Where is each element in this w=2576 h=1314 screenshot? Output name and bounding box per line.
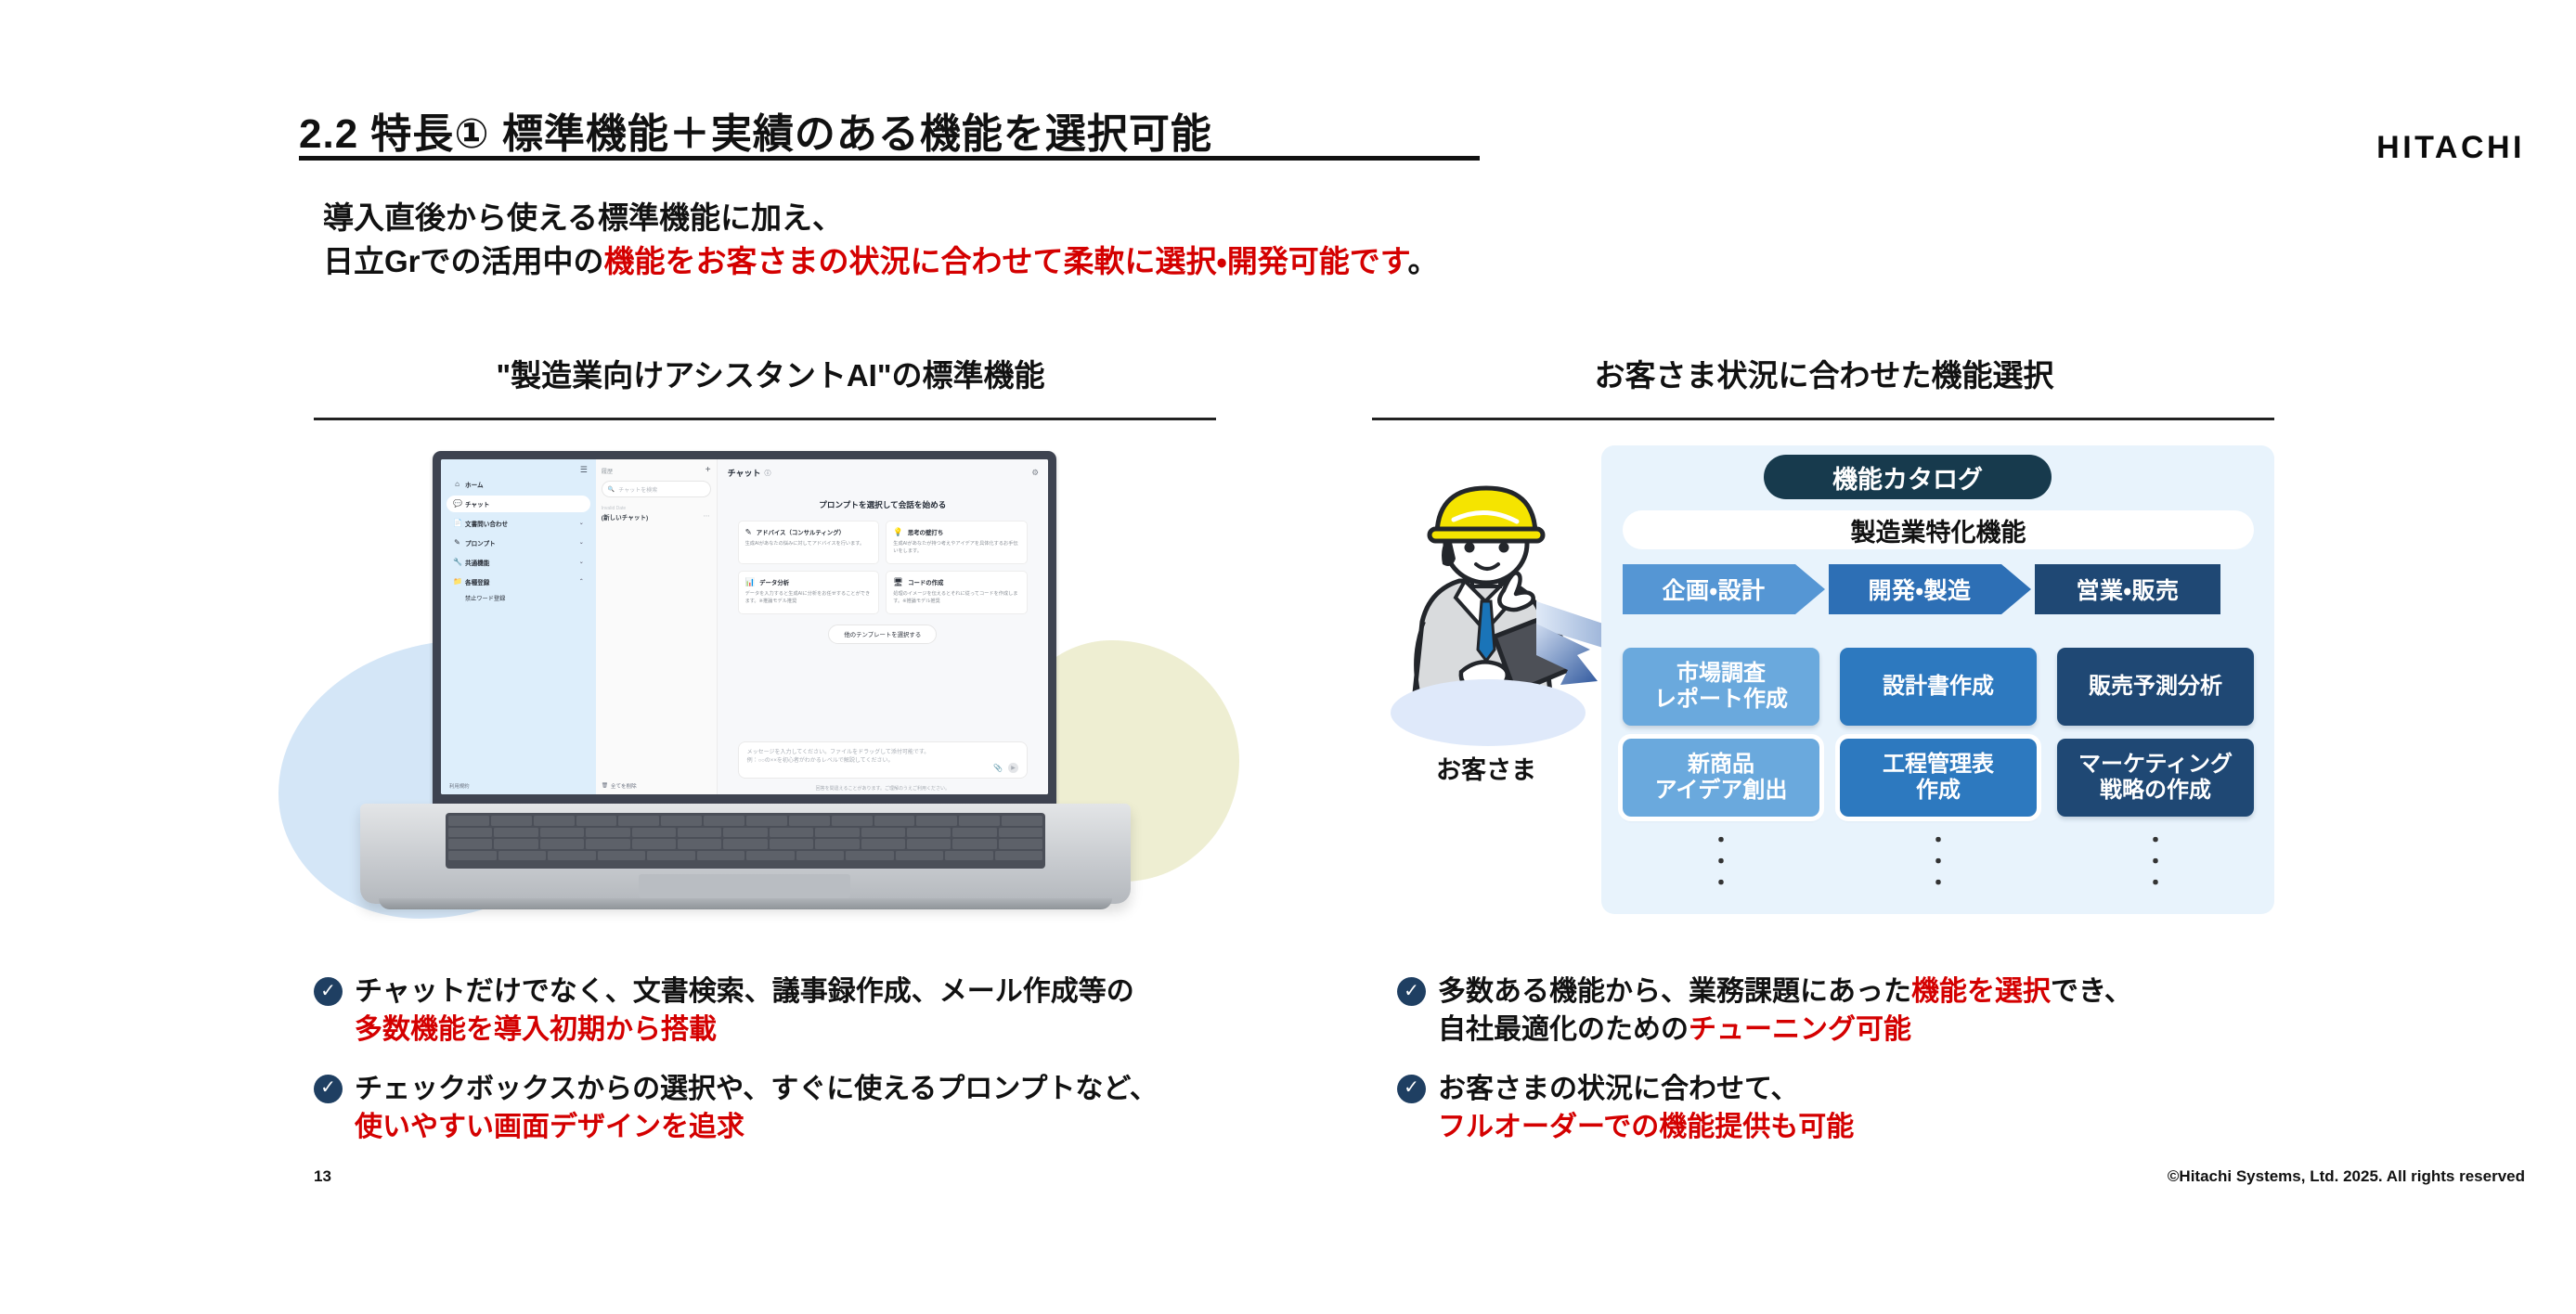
key: [874, 816, 915, 826]
search-icon: 🔍: [608, 486, 615, 493]
person-label: お客さま: [1365, 750, 1608, 786]
fc-l1: マーケティング: [2078, 752, 2233, 777]
ai-disclaimer: 回答を間違えることがあります。ご理解のうえご利用ください。: [718, 785, 1048, 792]
bullet-item: ✓ チェックボックスからの選択や、すぐに使えるプロンプトなど、 使いやすい画面デ…: [314, 1070, 1298, 1147]
sidebar-item-document-inquiry[interactable]: 📄 文書問い合わせ ⌄: [447, 515, 590, 532]
key: [647, 851, 695, 861]
code-icon: 🖥: [893, 577, 903, 587]
bullet-item: ✓ お客さまの状況に合わせて、 フルオーダーでの機能提供も可能: [1397, 1070, 2335, 1147]
function-card-label: 市場調査レポート作成: [1654, 661, 1788, 714]
bullet-text: 多数ある機能から、業務課題にあった機能を選択でき、 自社最適化のためのチューニン…: [1438, 973, 2132, 1050]
fc-l2: 戦略の作成: [2100, 778, 2211, 803]
sidebar-item-chat[interactable]: 💬 チャット: [447, 496, 590, 512]
function-card-label: 設計書作成: [1883, 674, 1994, 700]
lead-line-2-tail: 。: [1407, 244, 1438, 278]
laptop-trackpad: [639, 874, 850, 898]
trash-icon: 🗑: [602, 783, 608, 789]
ellipsis-row: ・・・ ・・・ ・・・: [1623, 830, 2254, 894]
message-composer[interactable]: メッセージを入力してください。ファイルをドラッグして添付可能です。 例：○○の×…: [738, 741, 1028, 779]
key: [632, 828, 676, 838]
history-item-date: Invalid Date: [602, 506, 711, 511]
bullet-line-2-black: 自社最適化のための: [1438, 1014, 1689, 1045]
delete-all-button[interactable]: 🗑 全てを削除: [602, 782, 711, 794]
bullet-text: お客さまの状況に合わせて、 フルオーダーでの機能提供も可能: [1438, 1070, 1854, 1147]
laptop-base-lip: [379, 898, 1112, 909]
fc-l1: 新商品: [1688, 752, 1754, 777]
chevron-down-icon: ⌄: [579, 520, 584, 526]
main-title: チャット: [728, 467, 761, 479]
key: [952, 828, 996, 838]
hitachi-logo: HITACHI: [2376, 130, 2525, 166]
lead-line-2-black: 日立Grでの活用中の: [323, 244, 604, 278]
lead-text: 導入直後から使える標準機能に加え、 日立Grでの活用中の機能をお客さまの状況に合…: [323, 197, 1438, 284]
chat-icon: 💬: [453, 499, 461, 508]
function-row: 市場調査レポート作成 設計書作成 販売予測分析: [1623, 648, 2254, 726]
left-heading-rule: [314, 418, 1216, 420]
key: [448, 839, 492, 849]
right-column-heading: お客さま状況に合わせた機能選択: [1365, 351, 2284, 395]
bullet-line-1: チェックボックスからの選択や、すぐに使えるプロンプトなど、: [355, 1074, 1158, 1104]
sidebar-subitem-banned-words[interactable]: 禁止ワード登録: [441, 591, 596, 602]
home-icon: ⌂: [453, 480, 461, 488]
laptop-screen: ☰ ⌂ ホーム 💬 チャット 📄 文書問い合わせ ⌄: [441, 459, 1048, 794]
key: [770, 828, 813, 838]
pencil-icon: ✎: [745, 527, 752, 537]
bullet-line-2: 自社最適化のためのチューニング可能: [1438, 1011, 2132, 1049]
stage-label: 営業・販売: [2076, 573, 2179, 606]
key: [448, 816, 489, 826]
key: [861, 828, 905, 838]
key: [540, 828, 584, 838]
key: [907, 828, 951, 838]
bullet-line-1: チャットだけでなく、文書検索、議事録作成、メール作成等の: [355, 976, 1134, 1007]
key: [448, 828, 492, 838]
check-icon: ✓: [314, 977, 343, 1006]
history-list-item[interactable]: Invalid Date (新しいチャット) ⋯: [602, 506, 711, 522]
bullet-line-1-red: 機能を選択: [1911, 976, 2051, 1007]
bullet-line-1-tail: でき、: [2051, 976, 2132, 1007]
fc-l2: アイデア創出: [1655, 778, 1788, 803]
page-number: 13: [314, 1167, 331, 1186]
keyboard-row: [448, 839, 1042, 849]
manufacturing-features-bar: 製造業特化機能: [1623, 510, 2254, 549]
function-card-label: 工程管理表作成: [1883, 752, 1994, 805]
bar-chart-icon: 📊: [745, 577, 756, 587]
history-search-placeholder: チャットを検索: [618, 485, 657, 494]
prompt-card-desc: 処理のイメージを伝えるとそれに従ってコードを作成します。※推論モデル推奨: [893, 591, 1020, 605]
function-row: 新商品アイデア創出 工程管理表作成 マーケティング戦略の作成: [1623, 739, 2254, 817]
key: [618, 816, 659, 826]
send-icon[interactable]: ▶: [1008, 763, 1018, 773]
key: [789, 816, 830, 826]
prompt-card[interactable]: 📊 データ分析 データを入力すると生成AIに分析をお任せすることができます。※推…: [738, 571, 880, 614]
prompt-card-head: 💡 思考の壁打ち: [893, 527, 1020, 537]
lightbulb-icon: 💡: [893, 527, 903, 537]
history-panel: 履歴 + 🔍 チャットを検索 Invalid Date (新しいチャット) ⋯: [596, 459, 718, 794]
app-sidebar: ☰ ⌂ ホーム 💬 チャット 📄 文書問い合わせ ⌄: [441, 459, 596, 794]
key: [586, 839, 629, 849]
fc-l1: 市場調査: [1676, 661, 1766, 686]
composer-actions: 📎 ▶: [993, 763, 1018, 773]
composer-placeholder: メッセージを入力してください。ファイルをドラッグして添付可能です。 例：○○の×…: [747, 749, 1018, 766]
sidebar-label-prompt: プロンプト: [465, 538, 496, 547]
key: [746, 816, 787, 826]
bullet-line-2-red: フルオーダーでの機能提供も可能: [1438, 1108, 1854, 1146]
prompt-card-desc: 生成AIがあなたが持つ考えやアイデアを具体化するお手伝いをします。: [893, 541, 1020, 555]
fc-l2: レポート作成: [1654, 687, 1788, 712]
stage-label: 企画・設計: [1662, 573, 1765, 606]
sidebar-label-common: 共通機能: [465, 558, 489, 567]
prompt-card-head: 📊 データ分析: [745, 577, 873, 587]
right-heading-rule: [1372, 418, 2274, 420]
key: [815, 828, 859, 838]
history-item-name: (新しいチャット): [602, 512, 711, 522]
chevron-up-icon: ⌃: [579, 578, 584, 585]
title-underline: [299, 156, 1480, 161]
bullet-line-2: 使いやすい画面デザインを追求: [355, 1108, 1158, 1146]
app-window: ☰ ⌂ ホーム 💬 チャット 📄 文書問い合わせ ⌄: [441, 459, 1048, 794]
key: [494, 839, 537, 849]
fc-l1: 工程管理表: [1883, 752, 1994, 777]
function-card-new-product-idea[interactable]: 新商品アイデア創出: [1623, 739, 1819, 817]
key: [770, 839, 813, 849]
keyboard-row: [448, 816, 1042, 826]
bullet-text: チェックボックスからの選択や、すぐに使えるプロンプトなど、 使いやすい画面デザイ…: [355, 1070, 1158, 1147]
ellipsis-dots-icon: ・・・: [1840, 830, 2037, 894]
prompt-card-title: データ分析: [759, 578, 789, 586]
key: [916, 816, 957, 826]
stage-row: 企画・設計 開発・製造 営業・販売: [1623, 564, 2254, 614]
stage-planning-design[interactable]: 企画・設計: [1623, 564, 1825, 614]
sidebar-label-home: ホーム: [465, 480, 484, 489]
sidebar-label-registrations: 各種登録: [465, 577, 489, 586]
prompt-card-title: アドバイス（コンサルティング）: [757, 528, 845, 536]
key: [704, 816, 744, 826]
laptop-lid: ☰ ⌂ ホーム 💬 チャット 📄 文書問い合わせ ⌄: [433, 451, 1056, 807]
bullet-line-1-black: 多数ある機能から、業務課題にあった: [1438, 976, 1911, 1007]
chevron-down-icon: ⌄: [579, 559, 584, 565]
delete-all-label: 全てを削除: [611, 782, 637, 790]
ellipsis-dots-icon: ・・・: [2057, 830, 2254, 894]
ellipsis-dots-icon: ・・・: [1623, 830, 1819, 894]
key: [534, 816, 575, 826]
function-selection-diagram: お客さま 機能カタログ 製造: [1365, 445, 2274, 914]
key: [995, 851, 1043, 861]
stage-label: 開発・製造: [1868, 573, 1971, 606]
check-icon: ✓: [1397, 977, 1426, 1006]
key: [952, 839, 996, 849]
key: [1002, 816, 1042, 826]
function-card-market-research[interactable]: 市場調査レポート作成: [1623, 648, 1819, 726]
key: [586, 828, 629, 838]
slide-root: 2.2 特長① 標準機能＋実績のある機能を選択可能 HITACHI 導入直後から…: [0, 0, 2576, 1314]
sidebar-item-registrations[interactable]: 📁 各種登録 ⌃: [447, 573, 590, 590]
info-icon[interactable]: ⓘ: [764, 469, 770, 478]
left-column-heading: "製造業向けアシスタントAI"の標準機能: [306, 351, 1235, 395]
select-other-template-button[interactable]: 他のテンプレートを選択する: [828, 625, 937, 644]
composer-placeholder-line1: メッセージを入力してください。ファイルをドラッグして添付可能です。: [747, 750, 930, 755]
keyboard-row: [448, 828, 1042, 838]
function-card-grid: 市場調査レポート作成 設計書作成 販売予測分析 新商品アイデア創出 工程管理表作…: [1623, 648, 2254, 894]
key: [598, 851, 646, 861]
bullet-item: ✓ チャットだけでなく、文書検索、議事録作成、メール作成等の 多数機能を導入初期…: [314, 973, 1298, 1050]
key: [697, 851, 745, 861]
app-main: チャット ⓘ ⚙ プロンプトを選択して会話を始める ✎ アドバイス（コンサルティ…: [718, 459, 1048, 794]
key: [632, 839, 676, 849]
main-heading: プロンプトを選択して会話を始める: [718, 499, 1048, 510]
page-title: 2.2 特長① 標準機能＋実績のある機能を選択可能: [299, 100, 1212, 160]
key: [723, 828, 767, 838]
key: [907, 839, 951, 849]
prompt-card[interactable]: ✎ アドバイス（コンサルティング） 生成AIがあなたの悩みに対してアドバイスを行…: [738, 521, 880, 564]
plus-icon[interactable]: +: [705, 466, 711, 475]
bullet-text: チャットだけでなく、文書検索、議事録作成、メール作成等の 多数機能を導入初期から…: [355, 973, 1134, 1050]
key: [815, 839, 859, 849]
function-card-label: 販売予測分析: [2089, 674, 2222, 700]
prompt-card-title: コードの作成: [908, 578, 943, 586]
sidebar-terms-link[interactable]: 利用規約: [441, 782, 596, 794]
key: [540, 839, 584, 849]
key: [448, 851, 497, 861]
function-card-design-document[interactable]: 設計書作成: [1840, 648, 2037, 726]
left-bullet-list: ✓ チャットだけでなく、文書検索、議事録作成、メール作成等の 多数機能を導入初期…: [314, 973, 1298, 1167]
prompt-card-desc: 生成AIがあなたの悩みに対してアドバイスを行います。: [745, 541, 873, 548]
ellipsis-icon[interactable]: ⋯: [704, 512, 710, 520]
paperclip-icon[interactable]: 📎: [993, 764, 1003, 772]
sidebar-item-common-functions[interactable]: 🔧 共通機能 ⌄: [447, 554, 590, 571]
function-card-process-management[interactable]: 工程管理表作成: [1840, 739, 2037, 817]
main-toolbar: チャット ⓘ ⚙: [718, 459, 1048, 479]
fc-l2: 作成: [1916, 778, 1961, 803]
key: [999, 839, 1042, 849]
key: [498, 851, 547, 861]
key: [959, 816, 1000, 826]
prompt-card-desc: データを入力すると生成AIに分析をお任せすることができます。※推論モデル推奨: [745, 591, 873, 605]
key: [723, 839, 767, 849]
function-card-sales-forecast[interactable]: 販売予測分析: [2057, 648, 2254, 726]
keyboard-row: [448, 851, 1042, 861]
history-header: 履歴 +: [602, 466, 711, 475]
key: [548, 851, 596, 861]
sidebar-label-chat: チャット: [465, 499, 489, 509]
function-card-marketing-strategy[interactable]: マーケティング戦略の作成: [2057, 739, 2254, 817]
key: [576, 816, 617, 826]
lead-line-1: 導入直後から使える標準機能に加え、: [323, 200, 843, 235]
bullet-line-2: 多数機能を導入初期から搭載: [355, 1011, 1134, 1049]
key: [832, 816, 873, 826]
prompt-card[interactable]: 💡 思考の壁打ち 生成AIがあなたが持つ考えやアイデアを具体化するお手伝いをしま…: [886, 521, 1028, 564]
key: [945, 851, 993, 861]
composer-placeholder-line2: 例：○○の××を初心者がわかるレベルで解説してください。: [747, 758, 894, 764]
chevron-down-icon: ⌄: [579, 539, 584, 546]
key: [491, 816, 532, 826]
laptop-mockup: ☰ ⌂ ホーム 💬 チャット 📄 文書問い合わせ ⌄: [360, 451, 1131, 934]
stage-development-manufacturing[interactable]: 開発・製造: [1829, 564, 2031, 614]
stage-sales[interactable]: 営業・販売: [2035, 564, 2220, 614]
bullet-item: ✓ 多数ある機能から、業務課題にあった機能を選択でき、 自社最適化のためのチュー…: [1397, 973, 2335, 1050]
sidebar-item-prompt[interactable]: ✎ プロンプト ⌄: [447, 535, 590, 551]
prompt-card-grid: ✎ アドバイス（コンサルティング） 生成AIがあなたの悩みに対してアドバイスを行…: [718, 510, 1048, 614]
check-icon: ✓: [1397, 1075, 1426, 1103]
function-card-label: 新商品アイデア創出: [1655, 752, 1788, 805]
key: [896, 851, 944, 861]
key: [746, 851, 795, 861]
prompt-card-title: 思考の壁打ち: [908, 528, 943, 536]
key: [999, 828, 1042, 838]
prompt-card[interactable]: 🖥 コードの作成 処理のイメージを伝えるとそれに従ってコードを作成します。※推論…: [886, 571, 1028, 614]
key: [494, 828, 537, 838]
folder-icon: 📁: [453, 577, 461, 586]
function-card-label: マーケティング戦略の作成: [2078, 752, 2233, 805]
wrench-icon: 🔧: [453, 558, 461, 566]
check-icon: ✓: [314, 1075, 343, 1103]
history-title: 履歴: [602, 467, 613, 475]
key: [678, 839, 721, 849]
key: [678, 828, 721, 838]
key: [861, 839, 905, 849]
prompt-card-head: 🖥 コードの作成: [893, 577, 1020, 587]
sidebar-item-home[interactable]: ⌂ ホーム: [447, 476, 590, 493]
document-icon: 📄: [453, 519, 461, 527]
hamburger-icon[interactable]: ☰: [441, 466, 596, 474]
pencil-icon: ✎: [453, 538, 461, 547]
lead-line-2-red: 機能をお客さまの状況に合わせて柔軟に選択・開発可能です: [604, 244, 1408, 278]
laptop-keyboard: [446, 813, 1045, 869]
bullet-line-2-red: チューニング可能: [1689, 1014, 1911, 1045]
catalog-pill: 機能カタログ: [1764, 455, 2052, 499]
sidebar-label-document: 文書問い合わせ: [465, 519, 508, 528]
right-bullet-list: ✓ 多数ある機能から、業務課題にあった機能を選択でき、 自社最適化のためのチュー…: [1397, 973, 2335, 1167]
key: [846, 851, 894, 861]
gear-icon[interactable]: ⚙: [1031, 468, 1039, 478]
copyright-notice: ©Hitachi Systems, Ltd. 2025. All rights …: [2168, 1167, 2525, 1186]
bullet-line-1-black: お客さまの状況に合わせて、: [1438, 1074, 1799, 1104]
key: [661, 816, 702, 826]
history-search-input[interactable]: 🔍 チャットを検索: [602, 481, 711, 497]
key: [796, 851, 845, 861]
prompt-card-head: ✎ アドバイス（コンサルティング）: [745, 527, 873, 537]
